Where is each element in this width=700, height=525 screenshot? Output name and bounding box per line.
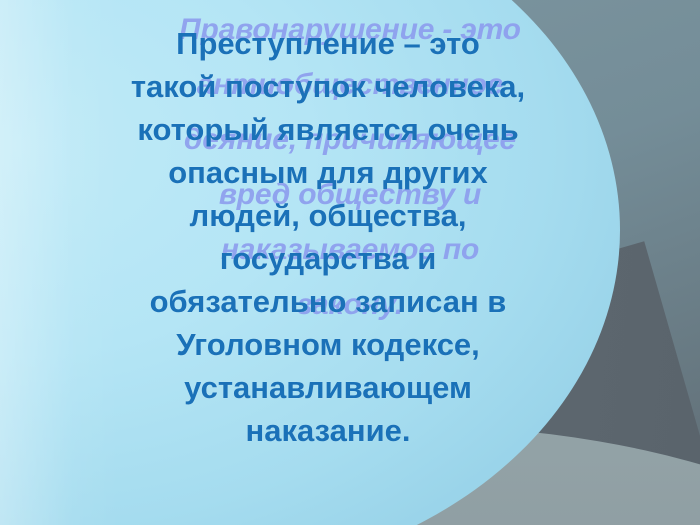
slide-body-text: Преступление – это такой поступок челове… (28, 22, 628, 452)
presentation-slide: Правонарушение - это антиобщественное де… (0, 0, 700, 525)
slide-text-layer: Правонарушение - это антиобщественное де… (0, 0, 700, 525)
